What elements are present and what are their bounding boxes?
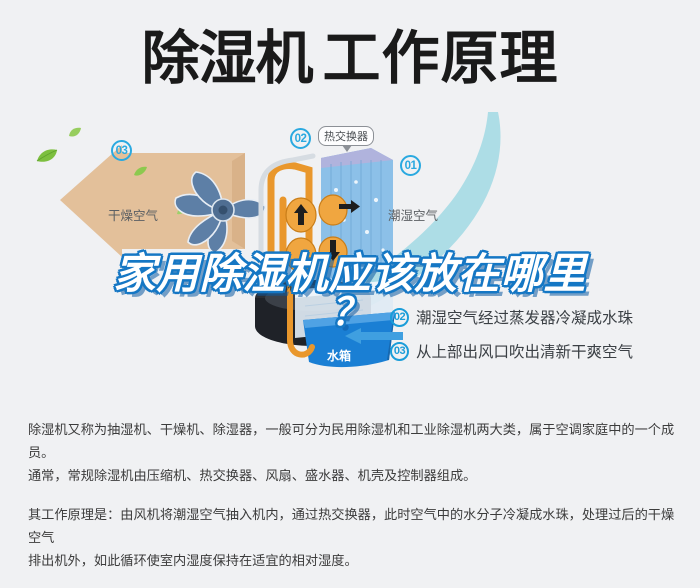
paragraph-2-line-2: 排出机外，如此循环使室内湿度保持在适宜的相对湿度。: [28, 549, 676, 572]
badge-heat-exchanger: 02: [290, 128, 311, 149]
step-text: 潮湿空气经过蒸发器冷凝成水珠: [416, 306, 633, 328]
leaf-icon: [68, 127, 82, 138]
leaf-icon: [36, 148, 58, 164]
badge-dry-air: 03: [111, 140, 132, 161]
step-badge: 02: [390, 308, 409, 327]
article-body: 除湿机又称为抽湿机、干燥机、除湿器，一般可分为民用除湿机和工业除湿机两大类，属于…: [28, 418, 676, 588]
paragraph-1-line-1: 除湿机又称为抽湿机、干燥机、除湿器，一般可分为民用除湿机和工业除湿机两大类，属于…: [28, 418, 676, 464]
process-steps-list: 02 潮湿空气经过蒸发器冷凝成水珠 03 从上部出风口吹出清新干爽空气: [390, 300, 690, 368]
page-title-part2: 工作原理: [323, 26, 559, 91]
callout-heat-exchanger: 热交换器: [318, 126, 374, 146]
list-item: 03 从上部出风口吹出清新干爽空气: [390, 334, 690, 368]
step-badge: 03: [390, 342, 409, 361]
overlay-headline: 家用除湿机应该放在哪里: [0, 250, 700, 298]
badge-moist-air: 01: [400, 155, 421, 176]
list-item: 02 潮湿空气经过蒸发器冷凝成水珠: [390, 300, 690, 334]
paragraph-1-line-2: 通常，常规除湿机由压缩机、热交换器、风扇、盛水器、机壳及控制器组成。: [28, 464, 676, 487]
paragraph-2-line-1: 其工作原理是：由风机将潮湿空气抽入机内，通过热交换器，此时空气中的水分子冷凝成水…: [28, 503, 676, 549]
paragraph-1: 除湿机又称为抽湿机、干燥机、除湿器，一般可分为民用除湿机和工业除湿机两大类，属于…: [28, 418, 676, 487]
label-dry-air: 干燥空气: [108, 205, 158, 224]
label-water-tank: 水箱: [327, 347, 351, 364]
page-title: 除湿机工作原理: [0, 22, 700, 96]
paragraph-2: 其工作原理是：由风机将潮湿空气抽入机内，通过热交换器，此时空气中的水分子冷凝成水…: [28, 503, 676, 572]
leaf-icon: [133, 165, 148, 177]
page-title-part1: 除湿机: [141, 26, 312, 91]
page-root: 除湿机工作原理: [0, 0, 700, 566]
label-moist-air: 潮湿空气: [388, 205, 438, 224]
step-text: 从上部出风口吹出清新干爽空气: [416, 340, 633, 362]
